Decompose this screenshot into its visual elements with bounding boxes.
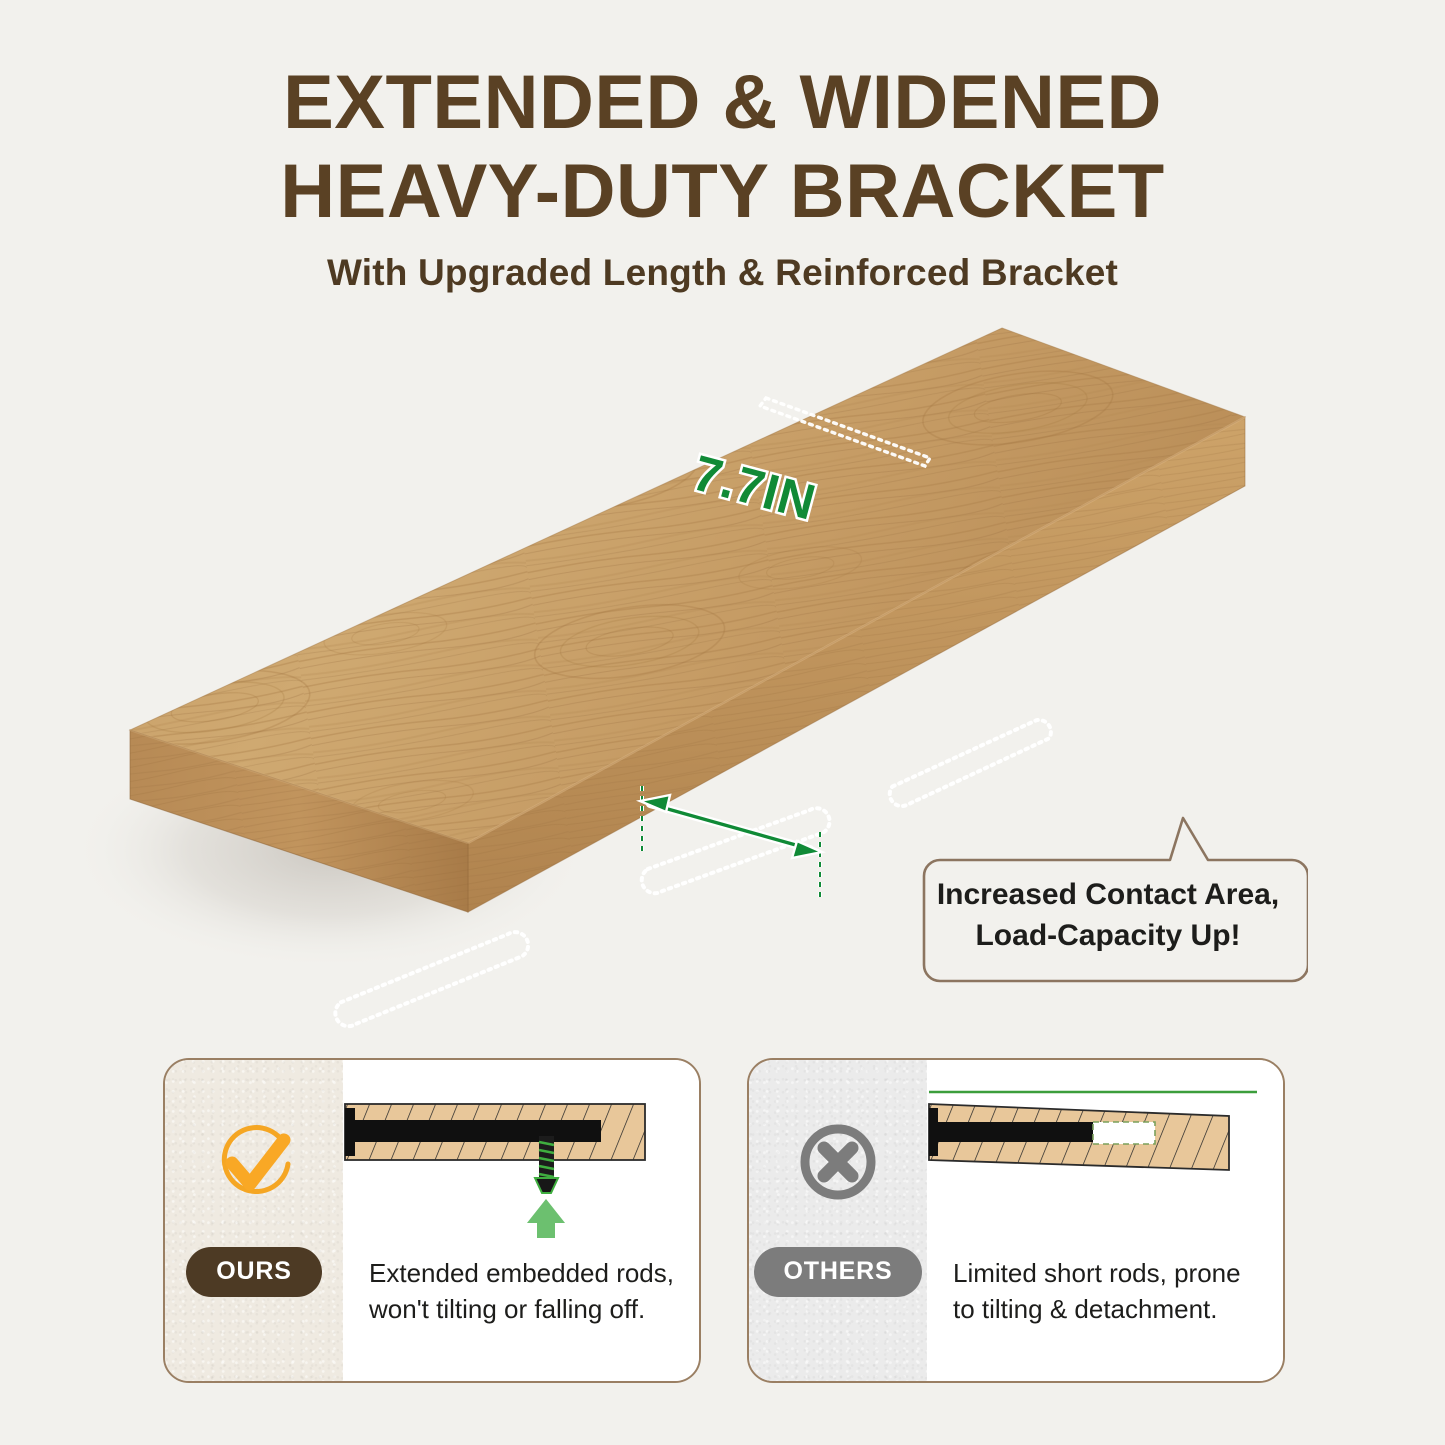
header: EXTENDED & WIDENED HEAVY-DUTY BRACKET Wi… [0, 58, 1445, 296]
card-others-caption-line-1: Limited short rods, prone [953, 1255, 1267, 1291]
empty-rod-cavity [1093, 1122, 1155, 1144]
callout-line-1: Increased Contact Area, [908, 874, 1308, 915]
card-ours-caption-line-1: Extended embedded rods, [369, 1255, 683, 1291]
card-ours-content: Extended embedded rods, won't tilting or… [343, 1060, 699, 1381]
comparison-card-others: OTHERS [747, 1058, 1285, 1383]
page-title-line-2: HEAVY-DUTY BRACKET [0, 147, 1445, 236]
callout-line-2: Load-Capacity Up! [908, 915, 1308, 956]
callout-bubble: Increased Contact Area, Load-Capacity Up… [908, 812, 1308, 987]
card-others-diagram-wrap [927, 1060, 1283, 1255]
card-ours-caption: Extended embedded rods, won't tilting or… [343, 1255, 699, 1327]
check-circle-icon [210, 1118, 298, 1211]
long-rod-cross-section-diagram [343, 1060, 699, 1255]
upward-force-arrow [527, 1199, 565, 1238]
comparison-card-ours: OURS [163, 1058, 701, 1383]
card-others-caption-line-2: to tilting & detachment. [953, 1291, 1267, 1327]
card-others-content: Limited short rods, prone to tilting & d… [927, 1060, 1283, 1381]
badge-others: OTHERS [754, 1247, 923, 1297]
short-rod-tilting-diagram [927, 1060, 1283, 1255]
infographic-page: EXTENDED & WIDENED HEAVY-DUTY BRACKET Wi… [0, 0, 1445, 1445]
callout-text: Increased Contact Area, Load-Capacity Up… [908, 874, 1308, 956]
page-subtitle: With Upgraded Length & Reinforced Bracke… [0, 250, 1445, 296]
x-circle-icon [794, 1118, 882, 1211]
card-others-caption: Limited short rods, prone to tilting & d… [927, 1255, 1283, 1327]
page-title-line-1: EXTENDED & WIDENED [0, 58, 1445, 147]
badge-ours: OURS [186, 1247, 321, 1297]
card-ours-diagram-wrap [343, 1060, 699, 1255]
card-ours-caption-line-2: won't tilting or falling off. [369, 1291, 683, 1327]
card-others-badge-panel: OTHERS [749, 1060, 927, 1381]
card-ours-badge-panel: OURS [165, 1060, 343, 1381]
